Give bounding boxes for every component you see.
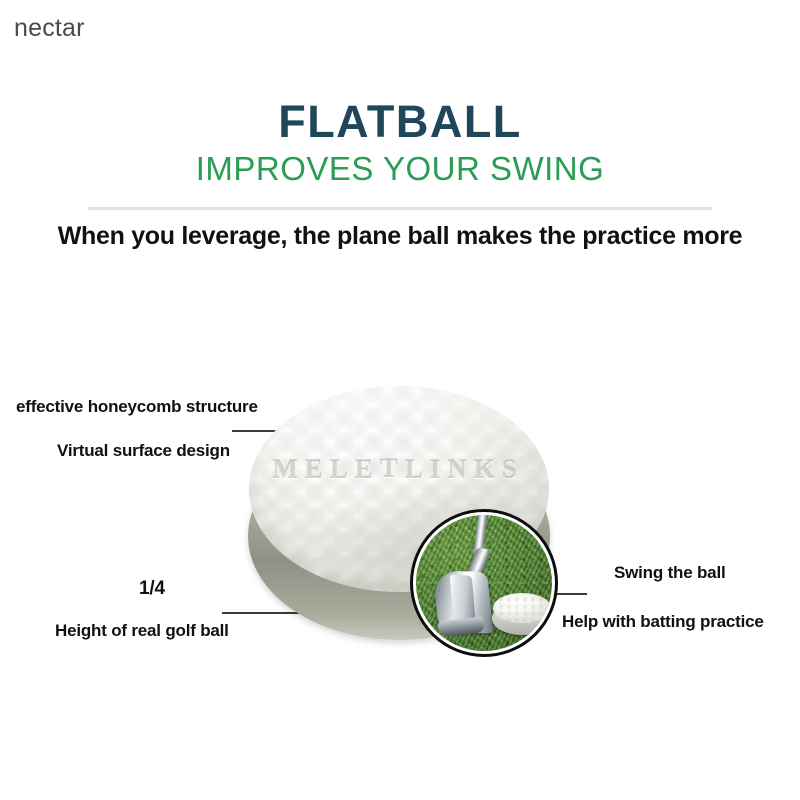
annotation-honeycomb-structure: effective honeycomb structure <box>16 397 258 417</box>
annotation-swing-the-ball: Swing the ball <box>614 563 726 583</box>
inset-flatball <box>492 593 552 637</box>
page-subtitle: IMPROVES YOUR SWING <box>0 150 800 188</box>
page-title: FLATBALL <box>0 96 800 148</box>
infographic-page: nectar FLATBALL IMPROVES YOUR SWING When… <box>0 0 800 800</box>
annotation-height-of-real-golf-ball: Height of real golf ball <box>55 621 229 641</box>
header-divider <box>88 207 712 210</box>
nectar-watermark: nectar <box>14 14 85 43</box>
page-tagline: When you leverage, the plane ball makes … <box>0 222 800 251</box>
turf-background <box>416 515 552 651</box>
inset-flatball-top-face <box>493 593 551 623</box>
inset-photo-swing-demo <box>410 509 558 657</box>
annotation-height-fraction: 1/4 <box>139 578 165 600</box>
annotation-virtual-surface-design: Virtual surface design <box>57 441 230 461</box>
annotation-batting-practice: Help with batting practice <box>562 612 764 632</box>
leader-line-right <box>556 593 587 595</box>
